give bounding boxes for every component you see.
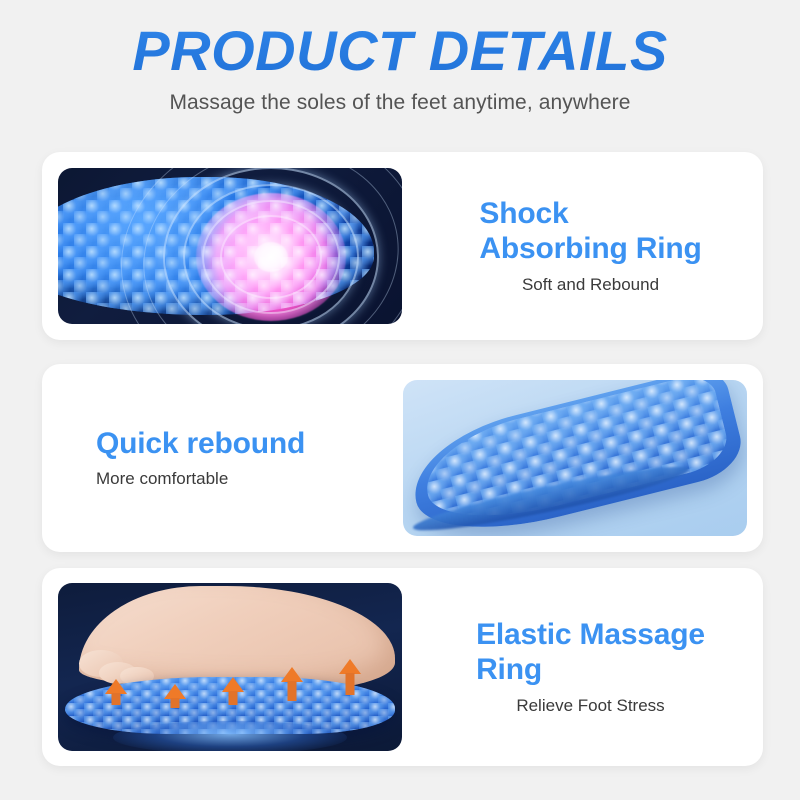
arrow-stem	[112, 693, 121, 705]
elastic-massage-ring-photo	[58, 583, 402, 751]
feature-subtitle: More comfortable	[96, 461, 379, 489]
arrow-up-icon	[164, 684, 186, 699]
shock-absorbing-ring-photo	[58, 168, 402, 324]
page-header: PRODUCT DETAILS Massage the soles of the…	[0, 0, 800, 115]
arrow-stem	[170, 698, 179, 708]
product-details-page: PRODUCT DETAILS Massage the soles of the…	[0, 0, 800, 800]
arrow-stem	[229, 691, 238, 705]
feature-text-quick-rebound: Quick rebound More comfortable	[42, 427, 387, 490]
feature-title-line-1: Shock	[479, 197, 701, 232]
page-subtitle: Massage the soles of the feet anytime, a…	[0, 81, 800, 115]
arrow-up-icon	[222, 677, 244, 692]
arrow-stem	[287, 681, 296, 701]
quick-rebound-photo	[403, 380, 747, 536]
page-title: PRODUCT DETAILS	[0, 0, 800, 81]
feature-text-elastic-massage-ring: Elastic Massage Ring Relieve Foot Stress	[418, 618, 763, 716]
arrow-up-icon	[281, 667, 303, 682]
feature-subtitle: Soft and Rebound	[426, 267, 755, 295]
arrow-up-icon	[339, 659, 361, 674]
feature-title-line-2: Absorbing Ring	[479, 232, 701, 267]
arrow-up-icon	[105, 679, 127, 694]
feature-subtitle: Relieve Foot Stress	[426, 688, 755, 716]
feature-title-line-1: Quick rebound	[96, 427, 379, 462]
arrow-stem	[346, 673, 355, 695]
shock-center-glow	[196, 193, 346, 321]
insole-base-glow	[113, 721, 347, 751]
feature-card-shock-absorbing-ring[interactable]: Shock Absorbing Ring Soft and Rebound	[42, 152, 763, 340]
feature-text-shock-absorbing-ring: Shock Absorbing Ring Soft and Rebound	[418, 197, 763, 295]
feature-card-elastic-massage-ring[interactable]: Elastic Massage Ring Relieve Foot Stress	[42, 568, 763, 766]
feature-title-line-1: Elastic Massage	[476, 618, 705, 653]
feature-title-line-2: Ring	[476, 653, 705, 688]
feature-card-quick-rebound[interactable]: Quick rebound More comfortable	[42, 364, 763, 552]
